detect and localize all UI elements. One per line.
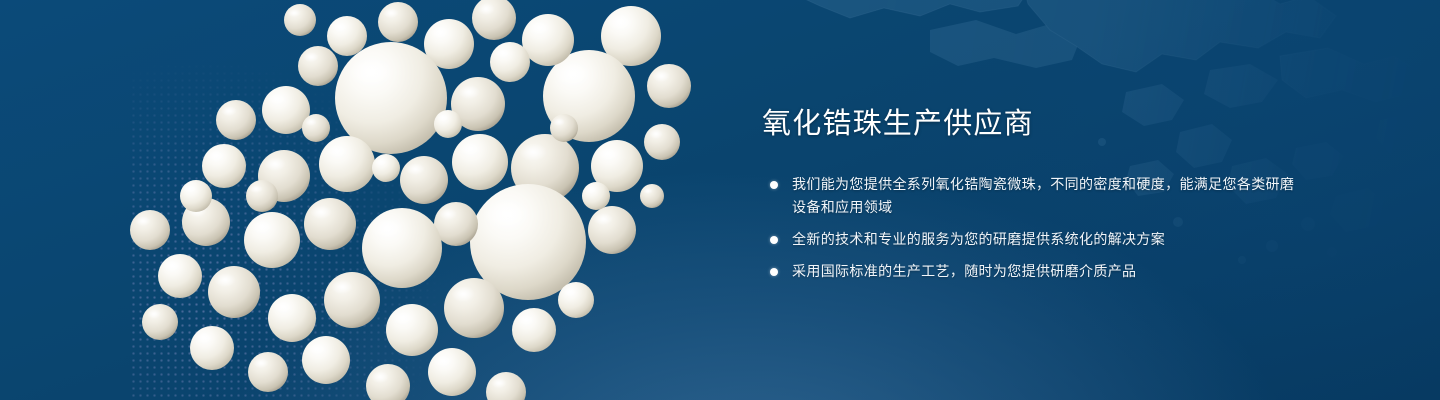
benefit-text: 全新的技术和专业的服务为您的研磨提供系统化的解决方案 (792, 231, 1165, 247)
benefit-item: 采用国际标准的生产工艺，随时为您提供研磨介质产品 (762, 260, 1302, 283)
hero-banner: 氧化锆珠生产供应商 我们能为您提供全系列氧化锆陶瓷微珠，不同的密度和硬度，能满足… (0, 0, 1440, 400)
benefit-item: 全新的技术和专业的服务为您的研磨提供系统化的解决方案 (762, 228, 1302, 251)
zirconia-beads-image (0, 0, 760, 400)
benefit-text: 采用国际标准的生产工艺，随时为您提供研磨介质产品 (792, 263, 1136, 279)
bullet-dot-icon (770, 181, 778, 189)
bullet-dot-icon (770, 236, 778, 244)
benefit-list: 我们能为您提供全系列氧化锆陶瓷微珠，不同的密度和硬度，能满足您各类研磨设备和应用… (762, 173, 1302, 283)
bullet-dot-icon (770, 268, 778, 276)
banner-headline: 氧化锆珠生产供应商 (762, 104, 1302, 144)
benefit-item: 我们能为您提供全系列氧化锆陶瓷微珠，不同的密度和硬度，能满足您各类研磨设备和应用… (762, 173, 1302, 219)
halftone-dot-pattern (130, 0, 550, 400)
banner-copy: 氧化锆珠生产供应商 我们能为您提供全系列氧化锆陶瓷微珠，不同的密度和硬度，能满足… (762, 104, 1302, 283)
benefit-text: 我们能为您提供全系列氧化锆陶瓷微珠，不同的密度和硬度，能满足您各类研磨设备和应用… (792, 176, 1294, 215)
